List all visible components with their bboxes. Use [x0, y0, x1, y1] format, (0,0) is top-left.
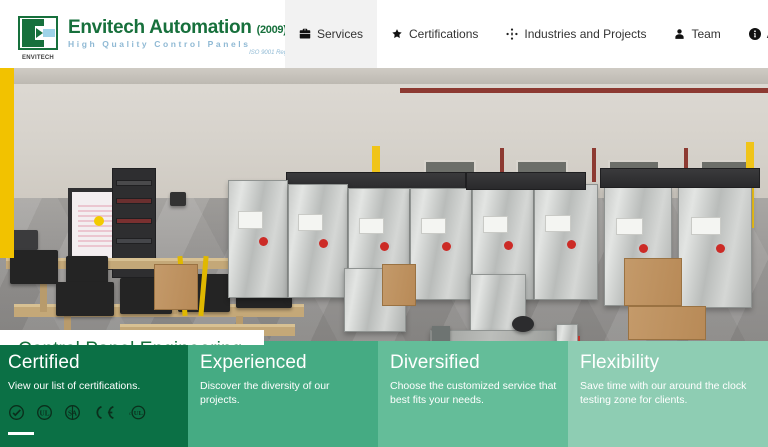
feature-underline — [8, 432, 34, 435]
wall-beam — [400, 88, 768, 93]
briefcase-icon — [299, 28, 311, 40]
sitemap-icon — [506, 28, 518, 40]
emergency-stop-button — [639, 244, 648, 253]
ul-mark-icon: UL — [36, 404, 53, 421]
warehouse-ceiling — [0, 68, 768, 84]
cabinet-label — [298, 214, 322, 231]
cabinet-label — [483, 216, 508, 233]
cardboard-box — [624, 258, 682, 306]
emergency-stop-button — [442, 242, 451, 251]
control-cabinet — [288, 184, 348, 298]
nav-label-team: Team — [691, 27, 720, 41]
round-fixture — [512, 316, 534, 332]
nav-label-industries-and-projects: Industries and Projects — [524, 27, 646, 41]
feature-text-experienced: Discover the diversity of our projects. — [200, 379, 368, 407]
cabinet-top — [466, 172, 586, 190]
tool-rack-shelf — [116, 218, 152, 224]
certification-badges: UL SA cUL — [8, 404, 178, 421]
main-navigation: Services Certifications Industries and P… — [285, 0, 768, 68]
logo-blue-bar — [43, 29, 55, 37]
nav-item-services[interactable]: Services — [285, 0, 377, 68]
hero-photo — [0, 68, 768, 345]
logo-arrow-shape — [36, 28, 43, 38]
brand-text-block: Envitech Automation (2009) Inc. High Qua… — [60, 14, 307, 56]
hero-accent-stripe — [0, 68, 14, 258]
panel-enclosure — [170, 192, 186, 206]
emergency-stop-button — [380, 242, 389, 251]
company-tagline: High Quality Control Panels — [68, 39, 307, 49]
svg-text:UL: UL — [134, 410, 144, 417]
panel-enclosure — [56, 282, 114, 316]
iso-note: ISO 9001 Registered — [68, 50, 307, 56]
hero-slider: Control Panel Engineering ‹ › — [0, 68, 768, 345]
brand-logo[interactable]: ENVITECH Envitech Automation (2009) Inc.… — [0, 8, 285, 60]
cabinet-label — [238, 211, 262, 228]
cabinet-label — [545, 215, 571, 232]
feature-panel-certified[interactable]: Certified View our list of certification… — [0, 341, 188, 447]
poster-dot — [94, 216, 104, 226]
feature-panel-experienced[interactable]: Experienced Discover the diversity of ou… — [188, 341, 378, 447]
hero-caption-text: Control Panel Engineering — [18, 339, 242, 345]
cabinet-top — [600, 168, 760, 188]
control-cabinet — [678, 184, 752, 308]
csa-mark-icon: SA — [64, 404, 81, 421]
cul-mark-icon: cUL — [127, 404, 148, 421]
tool-rack-shelf — [116, 238, 152, 244]
info-circle-icon — [749, 28, 761, 40]
company-name: Envitech Automation (2009) Inc. — [68, 18, 307, 38]
envitech-logo-icon: ENVITECH — [16, 16, 60, 60]
wall-beam — [592, 148, 596, 182]
feature-panel-diversified[interactable]: Diversified Choose the customized servic… — [378, 341, 568, 447]
logo-e-shape — [22, 19, 35, 47]
control-cabinet — [410, 188, 472, 300]
feature-title-flexibility: Flexibility — [580, 353, 758, 374]
feature-panels: Certified View our list of certification… — [0, 341, 768, 447]
user-icon — [674, 28, 685, 40]
emergency-stop-button — [504, 241, 513, 250]
nav-item-team[interactable]: Team — [660, 0, 734, 68]
nav-label-services: Services — [317, 27, 363, 41]
emergency-stop-button — [319, 239, 328, 248]
feature-text-flexibility: Save time with our around the clock test… — [580, 379, 758, 407]
feature-title-diversified: Diversified — [390, 353, 558, 374]
tool-rack-shelf — [116, 198, 152, 204]
nav-item-industries-and-projects[interactable]: Industries and Projects — [492, 0, 660, 68]
feature-title-experienced: Experienced — [200, 353, 368, 374]
star-icon — [391, 28, 403, 40]
cabinet-label — [616, 218, 644, 236]
feature-title-certified: Certified — [8, 353, 178, 374]
check-circle-mark-icon — [8, 404, 25, 421]
nav-label-certifications: Certifications — [409, 27, 478, 41]
cabinet-label — [691, 217, 721, 235]
control-cabinet — [228, 180, 288, 298]
cabinet-label — [359, 218, 384, 235]
feature-panel-flexibility[interactable]: Flexibility Save time with our around th… — [568, 341, 768, 447]
nav-item-about-us[interactable]: About Us — [735, 0, 768, 68]
svg-text:UL: UL — [40, 410, 50, 418]
company-name-text: Envitech Automation — [68, 17, 252, 38]
control-cabinet — [534, 184, 598, 300]
cabinet-label — [421, 218, 446, 235]
feature-text-diversified: Choose the customized service that best … — [390, 379, 558, 407]
panel-enclosure — [10, 250, 58, 284]
cardboard-box — [628, 306, 706, 340]
nav-item-certifications[interactable]: Certifications — [377, 0, 492, 68]
feature-text-certified: View our list of certifications. — [8, 379, 178, 393]
site-header: ENVITECH Envitech Automation (2009) Inc.… — [0, 0, 768, 68]
cardboard-box — [382, 264, 416, 306]
cardboard-box — [154, 264, 198, 310]
tool-rack-shelf — [116, 180, 152, 186]
logo-wordmark: ENVITECH — [16, 55, 60, 61]
hero-caption: Control Panel Engineering — [0, 330, 264, 345]
ce-mark-icon — [92, 404, 116, 421]
emergency-stop-button — [716, 244, 725, 253]
panel-enclosure — [66, 256, 108, 284]
emergency-stop-button — [567, 240, 576, 249]
emergency-stop-button — [259, 237, 268, 246]
